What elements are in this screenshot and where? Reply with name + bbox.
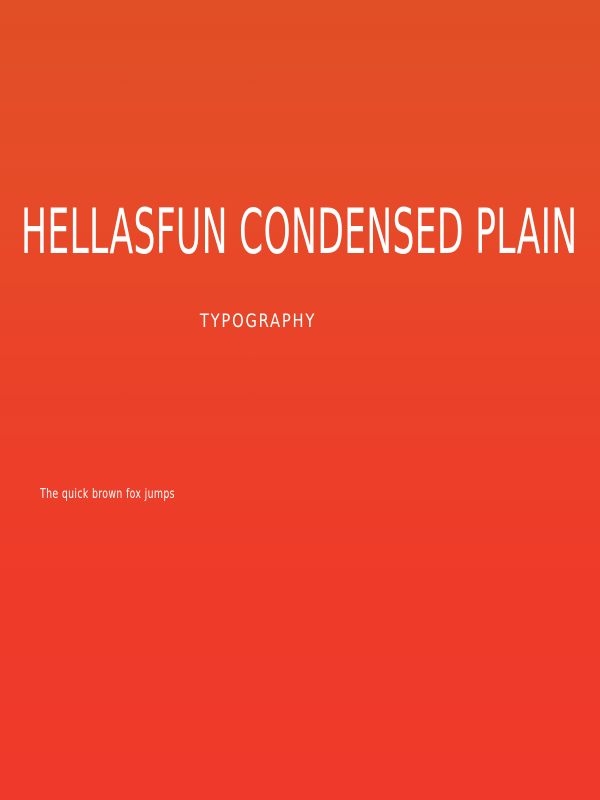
typography-specimen-slide: HELLASFUN CONDENSED PLAIN TYPOGRAPHY The…: [0, 0, 600, 800]
specimen-title: HELLASFUN CONDENSED PLAIN: [21, 196, 600, 268]
specimen-sample-text: The quick brown fox jumps: [40, 486, 175, 504]
specimen-subtitle: TYPOGRAPHY: [36, 308, 480, 334]
